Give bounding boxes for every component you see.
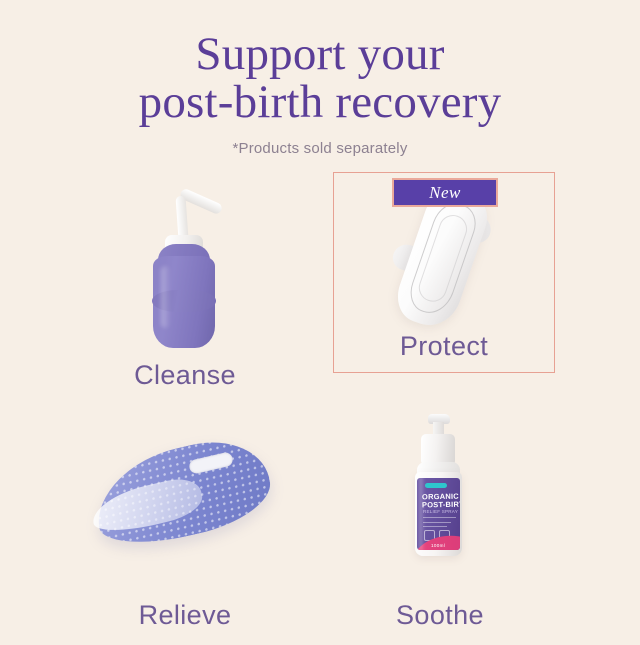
spray-label-line-2: POST-BIRTH (422, 500, 460, 510)
product-grid: Cleanse Protect Relieve (0, 170, 640, 640)
disclaimer-text: *Products sold separately (0, 140, 640, 157)
product-image-cleanse (65, 170, 305, 350)
spray-bottle-body: ORGANIC POST-BIRTH RELIEF SPRAY 100ml (415, 472, 462, 556)
product-caption-cleanse: Cleanse (65, 360, 305, 391)
product-image-soothe: ORGANIC POST-BIRTH RELIEF SPRAY 100ml (320, 410, 560, 590)
headline-line-2: post-birth recovery (0, 78, 640, 126)
product-caption-protect: Protect (334, 331, 554, 362)
product-card-cleanse[interactable]: Cleanse (65, 170, 305, 405)
spray-bottle-icon: ORGANIC POST-BIRTH RELIEF SPRAY 100ml (380, 410, 500, 586)
new-badge-label: New (429, 183, 461, 203)
spray-volume-label: 100ml (431, 543, 445, 548)
maternity-pad-icon (349, 187, 539, 329)
peri-bottle-icon (125, 174, 245, 350)
brand-mark-icon (425, 483, 447, 488)
new-badge: New (392, 178, 498, 207)
spray-label-line-3: RELIEF SPRAY (423, 509, 458, 514)
headline-line-1: Support your (195, 28, 444, 80)
peri-bottle-body (153, 256, 215, 348)
gel-pad-icon (85, 434, 285, 564)
bottle-gloss (419, 474, 425, 552)
header: Support your post-birth recovery *Produc… (0, 30, 640, 157)
product-card-soothe[interactable]: ORGANIC POST-BIRTH RELIEF SPRAY 100ml (320, 410, 560, 645)
page-title: Support your post-birth recovery (0, 30, 640, 126)
product-caption-relieve: Relieve (65, 600, 305, 631)
peri-bottle-neck (175, 196, 188, 241)
product-image-relieve (65, 410, 305, 590)
spray-collar (421, 434, 455, 464)
product-caption-soothe: Soothe (320, 600, 560, 631)
product-card-relieve[interactable]: Relieve (65, 410, 305, 645)
